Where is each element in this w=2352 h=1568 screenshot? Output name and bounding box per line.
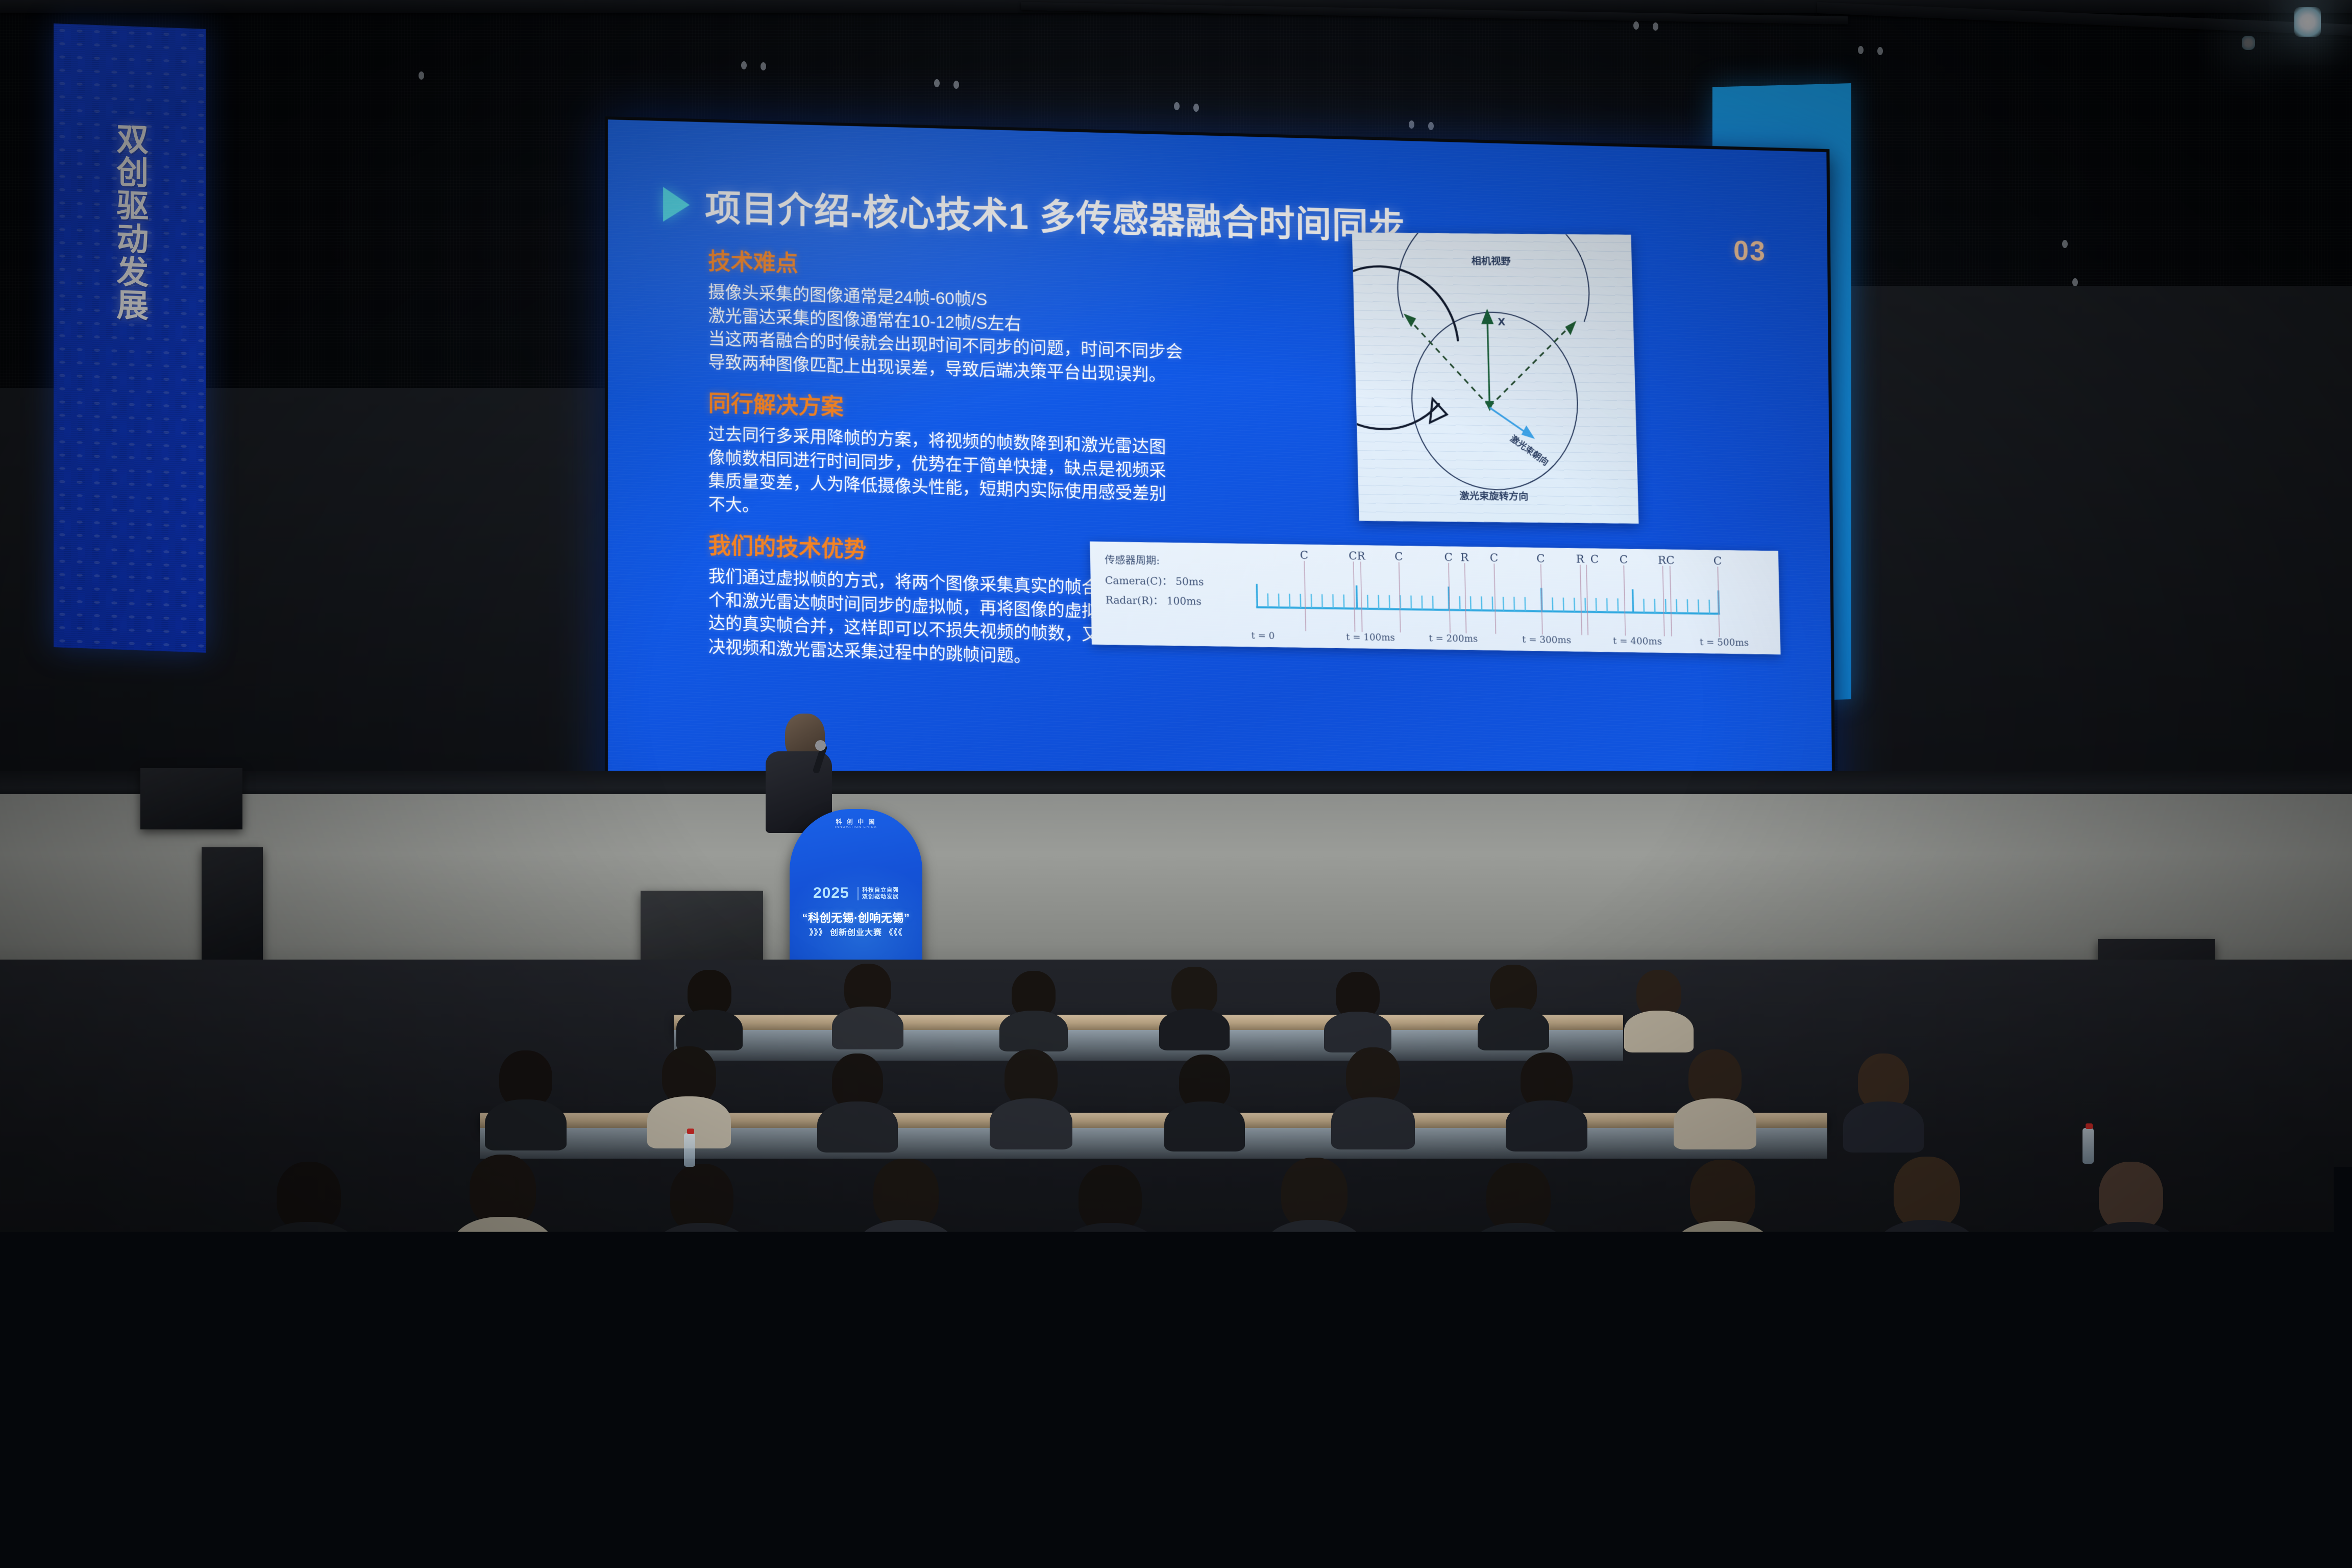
audience-member [1337,1047,1409,1137]
slide-page-number: 03 [1733,235,1766,267]
stage-equipment-box [641,891,763,967]
audience-member [1087,1279,1205,1437]
person-body [1263,1220,1365,1282]
chart-xtick: t = 400ms [1613,635,1662,647]
podium-slogan: “科创无锡·创响无锡” [790,909,922,925]
chart-marker: C [1394,550,1403,563]
audience-member [1848,1053,1919,1139]
person-head [36,1286,122,1380]
audience-member [1526,1281,1644,1438]
audience-member [1003,971,1064,1042]
person-head [1281,1158,1347,1229]
person-body [1075,1364,1216,1454]
podium-logo: 科 创 中 国 INNOVATION CHINA [790,817,922,829]
sensor-timing-chart: 传感器周期: Camera(C)： 50ms Radar(R)： 100ms [1090,542,1780,655]
chart-marker: C [1590,553,1599,566]
podium-logo-subtext: INNOVATION CHINA [790,826,922,829]
section-body: 过去同行多采用降帧的方案，将视频的帧数降到和激光雷达图 像帧数相同进行时间同步，… [708,422,1254,532]
ceiling-light-dot [1858,46,1864,54]
person-body [636,1360,778,1451]
audience-member [995,1049,1067,1137]
person-body [259,1222,359,1283]
person-head [233,1276,323,1373]
ceiling-light-dot [741,61,747,69]
audience-member [658,1164,745,1269]
audience-member [1679,1160,1766,1268]
person-body [855,1220,957,1282]
person-body [817,1101,898,1153]
chart-marker: C [1536,552,1545,565]
person-body [832,1007,903,1049]
person-body [1159,1009,1230,1050]
diagram-label-beam-direction: 激光束朝向 [1508,433,1551,468]
person-head [1761,1290,1848,1384]
chart-marker: C [1713,555,1722,568]
person-body [1164,1101,1245,1151]
audience-member [837,964,898,1040]
person-head [439,1291,525,1384]
audience-member [2088,1162,2174,1269]
ceiling-light-dot [934,79,940,87]
person-body [1468,1223,1569,1284]
chart-legend-radar: Radar(R)： 100ms [1106,594,1202,607]
slide-title-row: 项目介绍-核心技术1 多传感器融合时间同步 [663,178,1405,250]
ceiling-light-dot [761,62,766,70]
person-head [1079,1165,1142,1232]
person-head [2204,1286,2292,1381]
podium-tag-line2: 双创驱动发展 [862,894,899,900]
podium-year: 2025 [813,885,849,901]
person-head [1540,1281,1629,1377]
person-head [470,1155,536,1226]
chart-marker: R [1576,553,1585,566]
audience-member [490,1050,561,1137]
person-head [883,1289,970,1383]
audience-member [1628,970,1689,1043]
person-body [1324,1012,1391,1052]
chart-marker: C [1444,551,1453,563]
audience-member [1483,965,1544,1041]
ceiling-light-dot [2072,278,2078,286]
person-head [409,1465,520,1568]
diagram-label-rotation-direction: 激光束旋转方向 [1459,490,1529,503]
section-body: 摄像头采集的图像通常是24帧-60帧/S 激光雷达采集的图像通常在10-12帧/… [708,280,1253,389]
person-head [277,1162,341,1231]
audience-member [1746,1290,1863,1442]
person-head [670,1164,733,1232]
spotlight-icon [2242,36,2255,50]
audience-member [1271,1158,1358,1268]
chart-xtick: t = 200ms [1429,633,1478,645]
person-body [1672,1221,1773,1283]
podium-year-tag: 科技自立自强 双创驱动发展 [857,887,899,900]
ceiling-light-dot [953,81,959,89]
audience-member [653,1046,725,1136]
person-body [999,1011,1068,1051]
pa-speaker [140,768,242,829]
audience-member [868,1289,985,1441]
chart-legend-camera: Camera(C)： 50ms [1105,574,1204,588]
water-bottle [2082,1128,2094,1164]
ceiling-light-dot [2062,240,2068,248]
person-body [1506,1100,1587,1151]
audience-member [1169,1055,1240,1139]
person-body [990,1098,1072,1149]
person-head [1984,1277,2074,1375]
person-body [1515,1365,1655,1455]
person-body [1736,1372,1873,1459]
person-head [1486,1163,1551,1232]
person-head [661,1274,752,1372]
person-body [414,1372,550,1458]
lidar-camera-diagram: 相机视野 X 激光束朝向 激光束旋转方向 [1352,232,1639,524]
audience-member [1511,1052,1582,1138]
diagram-label-x-axis: X [1498,316,1506,328]
ceiling-light-dot [1633,21,1639,30]
chart-marker: CR [1349,550,1366,562]
chart-xtick: t = 0 [1251,630,1275,642]
person-head [143,1450,255,1568]
ceiling-light-dot [1174,102,1180,110]
audience-member [265,1162,352,1269]
podium-subtitle: 》》》 创新创业大赛 《《《 [790,925,922,938]
audience-member [388,1465,541,1568]
audience-member [459,1155,546,1267]
person-body [1843,1101,1924,1153]
podium: 科 创 中 国 INNOVATION CHINA 2025 科技自立自强 双创驱… [790,809,922,977]
chart-xtick: t = 100ms [1346,632,1395,644]
person-body [1478,1008,1549,1050]
slide-section: 技术难点 摄像头采集的图像通常是24帧-60帧/S 激光雷达采集的图像通常在10… [708,243,1253,389]
podium-year-block: 2025 科技自立自强 双创驱动发展 [790,885,922,902]
podium-logo-text: 科 创 中 国 [836,818,876,825]
person-body [1624,1011,1694,1052]
water-bottle [1151,1262,1164,1311]
play-triangle-icon [663,187,690,223]
person-head [873,1159,939,1229]
audience-member [1475,1163,1562,1269]
person-body [452,1217,554,1280]
chart-marker: RC [1658,554,1675,567]
chart-marker: C [1490,552,1499,565]
ceiling-light-dot [1877,47,1883,55]
audience-member [1067,1165,1154,1269]
person-body [2081,1222,2181,1283]
ceiling-light-dot [419,71,424,80]
banner-scanlines [54,23,206,653]
timing-chart-svg: 传感器周期: Camera(C)： 50ms Radar(R)： 100ms [1090,542,1780,655]
person-head [1346,1047,1400,1106]
auditorium-scene: 双创驱动发展 科技自立自强 项目介绍-核心技术1 多传感器融合时间同步 03 技… [0,0,2352,1568]
person-body [10,1368,148,1455]
person-head [2099,1162,2163,1231]
audience-member [1327,972,1388,1043]
person-head [1322,1292,1408,1384]
microphone-head-icon [815,740,826,751]
audience-member [1970,1277,2088,1437]
diagram-svg: 相机视野 X 激光束朝向 激光束旋转方向 [1352,232,1639,524]
ceiling-light-dot [1653,22,1658,31]
audience-member [424,1291,541,1442]
audience-member [1679,1049,1751,1137]
watermark-logo: 现代快报 [1944,1411,2287,1529]
person-body [676,1010,743,1050]
audience-member [863,1159,949,1268]
person-head [1101,1279,1191,1376]
pa-speaker [202,847,263,965]
chart-marker: C [1300,549,1309,561]
audience-member [122,1450,276,1568]
ceiling-light-dot [1193,104,1199,112]
person-head [662,1046,716,1105]
chart-xtick: t = 500ms [1700,637,1749,649]
audience-member [648,1274,766,1435]
side-wall-right [1837,286,2352,801]
banner-left-text: 双创驱动发展 [112,121,148,322]
person-head [1690,1160,1755,1230]
diagram-label-camera-fov: 相机视野 [1471,255,1511,267]
audience-member [1164,967,1225,1042]
audience-member [1307,1292,1424,1442]
person-body [858,1371,995,1458]
spotlight-icon [2294,7,2321,37]
person-head [1188,1444,1303,1568]
person-body [208,1361,349,1451]
person-body [1674,1098,1756,1149]
chart-xtick: t = 300ms [1522,634,1571,646]
person-body [485,1099,567,1150]
water-bottle [569,1265,582,1312]
water-bottle [1419,1422,1434,1478]
person-body [1876,1220,1978,1282]
chart-marker: C [1620,553,1628,566]
person-head [1894,1157,1960,1229]
audience-member [219,1276,337,1435]
audience-member [1883,1157,1970,1268]
person-body [1061,1223,1159,1283]
water-bottle [181,1261,194,1310]
audience-member [822,1053,893,1139]
ceiling-light-dot [1428,122,1434,130]
chart-marker: R [1460,551,1469,564]
audience-member [679,970,740,1041]
person-body [1331,1097,1415,1149]
chart-title: 传感器周期: [1105,553,1160,567]
ceiling-light-dot [1409,120,1414,129]
podium-tag-line1: 科技自立自强 [862,887,899,894]
audience-member [1169,1444,1322,1568]
audience-member [20,1286,138,1439]
water-bottle [684,1133,695,1167]
slide-title: 项目介绍-核心技术1 多传感器融合时间同步 [705,179,1405,250]
slide-section: 同行解决方案 过去同行多采用降帧的方案，将视频的帧数降到和激光雷达图 像帧数相同… [708,385,1253,532]
led-banner-left: 双创驱动发展 [54,23,206,653]
